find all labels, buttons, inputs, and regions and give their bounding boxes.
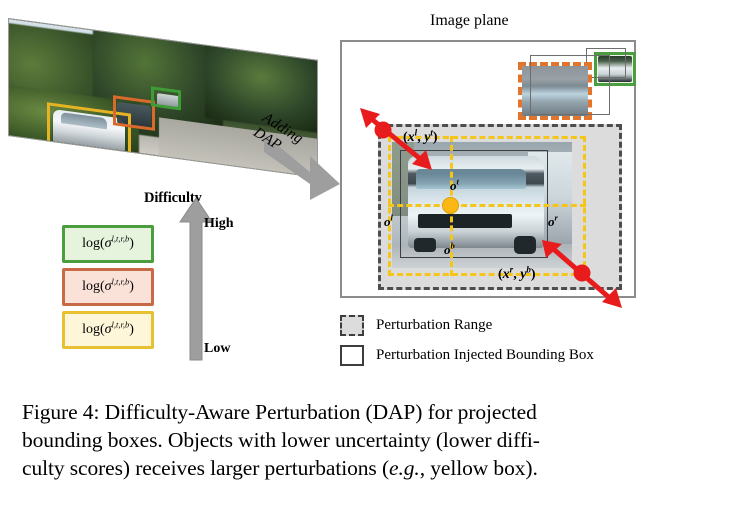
perturbation-arrow-bottom-right-icon <box>540 238 624 310</box>
caption-line-3-a: culty scores) receives larger perturbati… <box>22 456 389 480</box>
difficulty-box-low: log(σl,t,r,b) <box>62 311 154 349</box>
figure-legend: Perturbation Range Perturbation Injected… <box>340 310 670 370</box>
caption-line-3: culty scores) receives larger perturbati… <box>22 454 728 482</box>
offset-right-label: or <box>548 214 558 230</box>
orange-detection-box <box>113 95 155 131</box>
offset-top-label: ot <box>450 178 459 194</box>
caption-line-2: bounding boxes. Objects with lower uncer… <box>22 426 728 454</box>
figure-caption: Figure 4: Difficulty-Aware Perturbation … <box>22 398 728 482</box>
caption-line-3-emphasis: e.g. <box>389 456 420 480</box>
legend-perturbation-injected-bbox: Perturbation Injected Bounding Box <box>340 340 670 370</box>
difficulty-box-medium-formula: log(σl,t,r,b) <box>82 279 134 295</box>
perturbation-injected-bbox-label: Perturbation Injected Bounding Box <box>376 347 594 364</box>
offset-left-label: ol <box>384 214 393 230</box>
difficulty-box-low-formula: log(σl,t,r,b) <box>82 322 134 338</box>
mid-car-injected-bbox <box>530 55 610 115</box>
figure-4-diagram: Adding DAP Difficulty High Low log(σl,t,… <box>0 0 746 521</box>
near-van-center-dot <box>443 198 458 213</box>
corner-top-left-label: (xl, yt) <box>403 130 438 146</box>
corner-bottom-right-label: (xr, yb) <box>498 267 536 283</box>
difficulty-box-medium: log(σl,t,r,b) <box>62 268 154 306</box>
perturbation-injected-bbox-swatch <box>340 345 364 366</box>
perturbation-range-swatch <box>340 315 364 336</box>
caption-line-1: Figure 4: Difficulty-Aware Perturbation … <box>22 398 728 426</box>
difficulty-low-label: Low <box>204 341 230 357</box>
near-van-center-hline <box>388 204 586 207</box>
difficulty-box-high: log(σl,t,r,b) <box>62 225 154 263</box>
difficulty-box-high-formula: log(σl,t,r,b) <box>82 236 134 252</box>
caption-line-3-b: , yellow box). <box>420 456 538 480</box>
offset-bottom-label: ob <box>444 242 455 258</box>
green-detection-box <box>151 86 181 110</box>
legend-perturbation-range: Perturbation Range <box>340 310 670 340</box>
difficulty-high-label: High <box>204 216 234 232</box>
image-plane-title: Image plane <box>430 12 509 30</box>
perturbation-range-label: Perturbation Range <box>376 317 492 334</box>
